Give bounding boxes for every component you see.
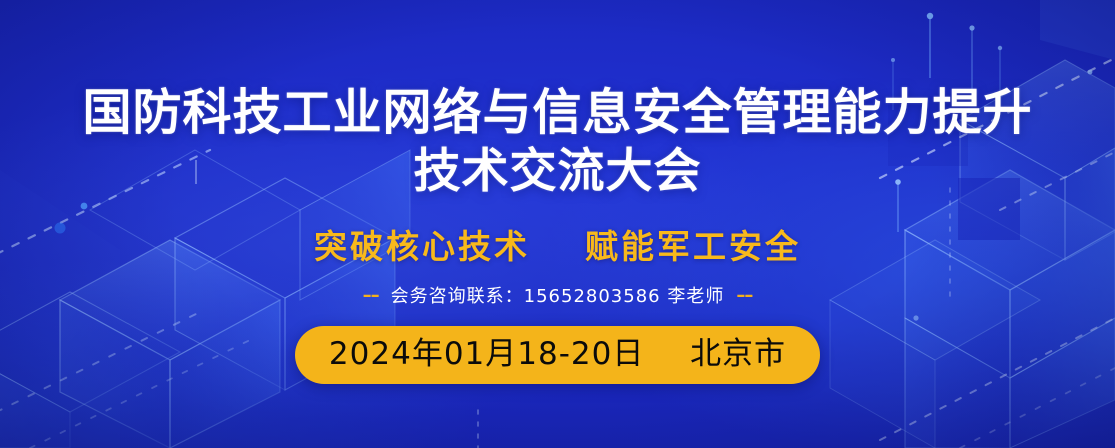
title-block: 国防科技工业网络与信息安全管理能力提升 技术交流大会 — [82, 82, 1032, 202]
badge-date: 2024年01月18-20日 — [329, 336, 644, 372]
banner-subtitle: 突破核心技术 赋能军工安全 — [314, 220, 801, 268]
subtitle-right: 赋能军工安全 — [585, 227, 801, 266]
banner-title-line-1: 国防科技工业网络与信息安全管理能力提升 — [82, 82, 1032, 142]
badge-location: 北京市 — [690, 336, 786, 372]
dash-left-icon: –– — [363, 285, 379, 306]
contact-line: –– 会务咨询联系：15652803586 李老师 –– — [363, 282, 753, 308]
conference-banner: 国防科技工业网络与信息安全管理能力提升 技术交流大会 突破核心技术 赋能军工安全… — [0, 0, 1115, 448]
date-location-badge: 2024年01月18-20日 北京市 — [295, 326, 820, 384]
subtitle-left: 突破核心技术 — [314, 227, 530, 266]
banner-content: 国防科技工业网络与信息安全管理能力提升 技术交流大会 突破核心技术 赋能军工安全… — [0, 0, 1115, 448]
banner-title-line-2: 技术交流大会 — [82, 142, 1032, 202]
dash-right-icon: –– — [736, 285, 752, 306]
contact-text: 会务咨询联系：15652803586 李老师 — [391, 282, 725, 308]
